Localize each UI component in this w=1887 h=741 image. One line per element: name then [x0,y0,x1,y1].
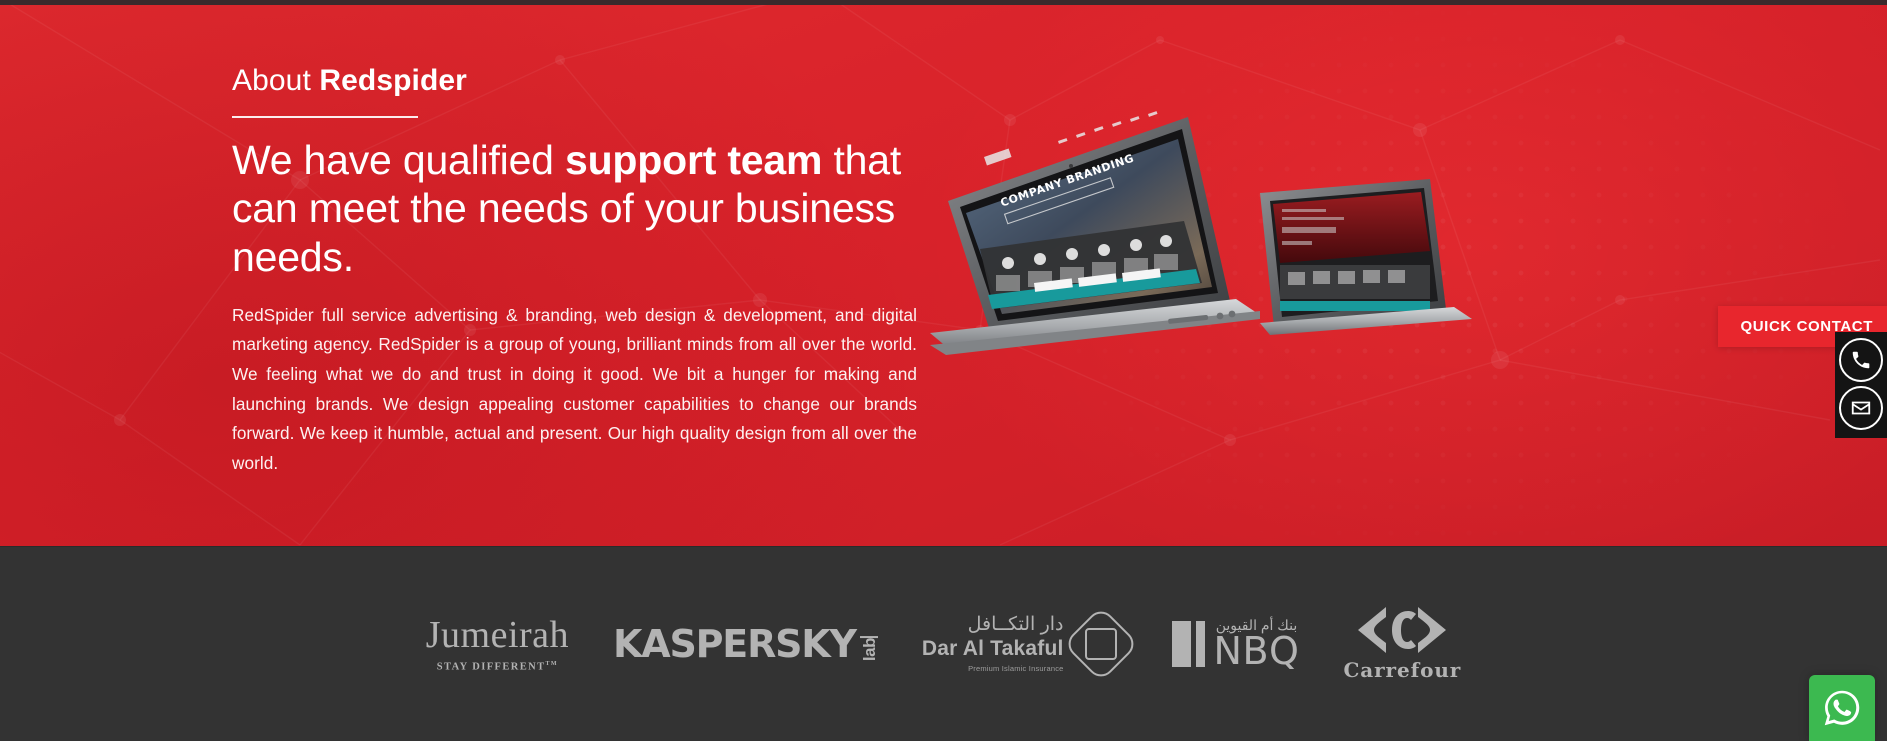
headline-emphasis: support team [565,137,822,183]
phone-icon [1850,349,1872,371]
client-logos-strip: Jumeirah STAY DIFFERENTTM KASPERSKY lab … [0,546,1887,741]
kaspersky-lab-suffix: lab [860,636,878,661]
client-logo-kaspersky[interactable]: KASPERSKY lab [613,625,878,663]
quick-contact-icon-panel [1835,332,1887,438]
email-contact-button[interactable] [1839,386,1883,430]
phone-call-button[interactable] [1839,338,1883,382]
kaspersky-wordmark: KASPERSKY [613,625,856,663]
envelope-icon [1850,397,1872,419]
laptop-mockup-image: COMPANY BRANDING [930,95,1690,415]
about-redspider-page: About Redspider We have qualified suppor… [0,0,1887,741]
whatsapp-chat-button[interactable] [1809,675,1875,741]
client-logo-carrefour[interactable]: Carrefour [1343,606,1461,682]
takaful-seal-icon [1062,606,1138,682]
hero-copy: About Redspider We have qualified suppor… [232,62,917,478]
nbq-bars-icon [1172,621,1205,667]
takaful-wordmark: Dar Al Takaful [922,636,1064,662]
eyebrow-brand-label: Redspider [319,64,467,97]
takaful-text-block: دار التكــافل Dar Al Takaful Premium Isl… [922,615,1064,673]
client-logo-jumeirah[interactable]: Jumeirah STAY DIFFERENTTM [426,616,569,673]
primary-laptop: COMPANY BRANDING [930,111,1260,355]
nbq-text-block: بنك أم القيوين NBQ [1214,618,1300,670]
nbq-wordmark: NBQ [1214,632,1300,670]
jumeirah-tagline: STAY DIFFERENTTM [426,661,569,673]
eyebrow-about-label: About [232,64,319,97]
takaful-arabic-name: دار التكــافل [922,615,1064,636]
page-title: We have qualified support team that can … [232,136,917,282]
top-divider-bar [0,0,1887,5]
carrefour-wordmark: Carrefour [1343,658,1461,682]
secondary-device [1260,179,1472,335]
headline-part-1: We have qualified [232,137,565,183]
eyebrow-underline [232,116,418,118]
client-logo-dar-al-takaful[interactable]: دار التكــافل Dar Al Takaful Premium Isl… [922,615,1128,673]
client-logo-nbq[interactable]: بنك أم القيوين NBQ [1172,618,1300,670]
takaful-tagline: Premium Islamic Insurance [922,664,1064,673]
whatsapp-icon [1819,685,1865,731]
carrefour-mark-icon [1356,606,1448,654]
page-eyebrow: About Redspider [232,62,917,100]
about-description: RedSpider full service advertising & bra… [232,301,917,478]
hero-section: About Redspider We have qualified suppor… [0,0,1887,546]
jumeirah-wordmark: Jumeirah [426,616,569,654]
quick-contact-widget[interactable]: QUICK CONTACT [1718,306,1887,347]
jumeirah-trademark: TM [546,661,558,667]
jumeirah-tagline-text: STAY DIFFERENT [437,661,546,672]
